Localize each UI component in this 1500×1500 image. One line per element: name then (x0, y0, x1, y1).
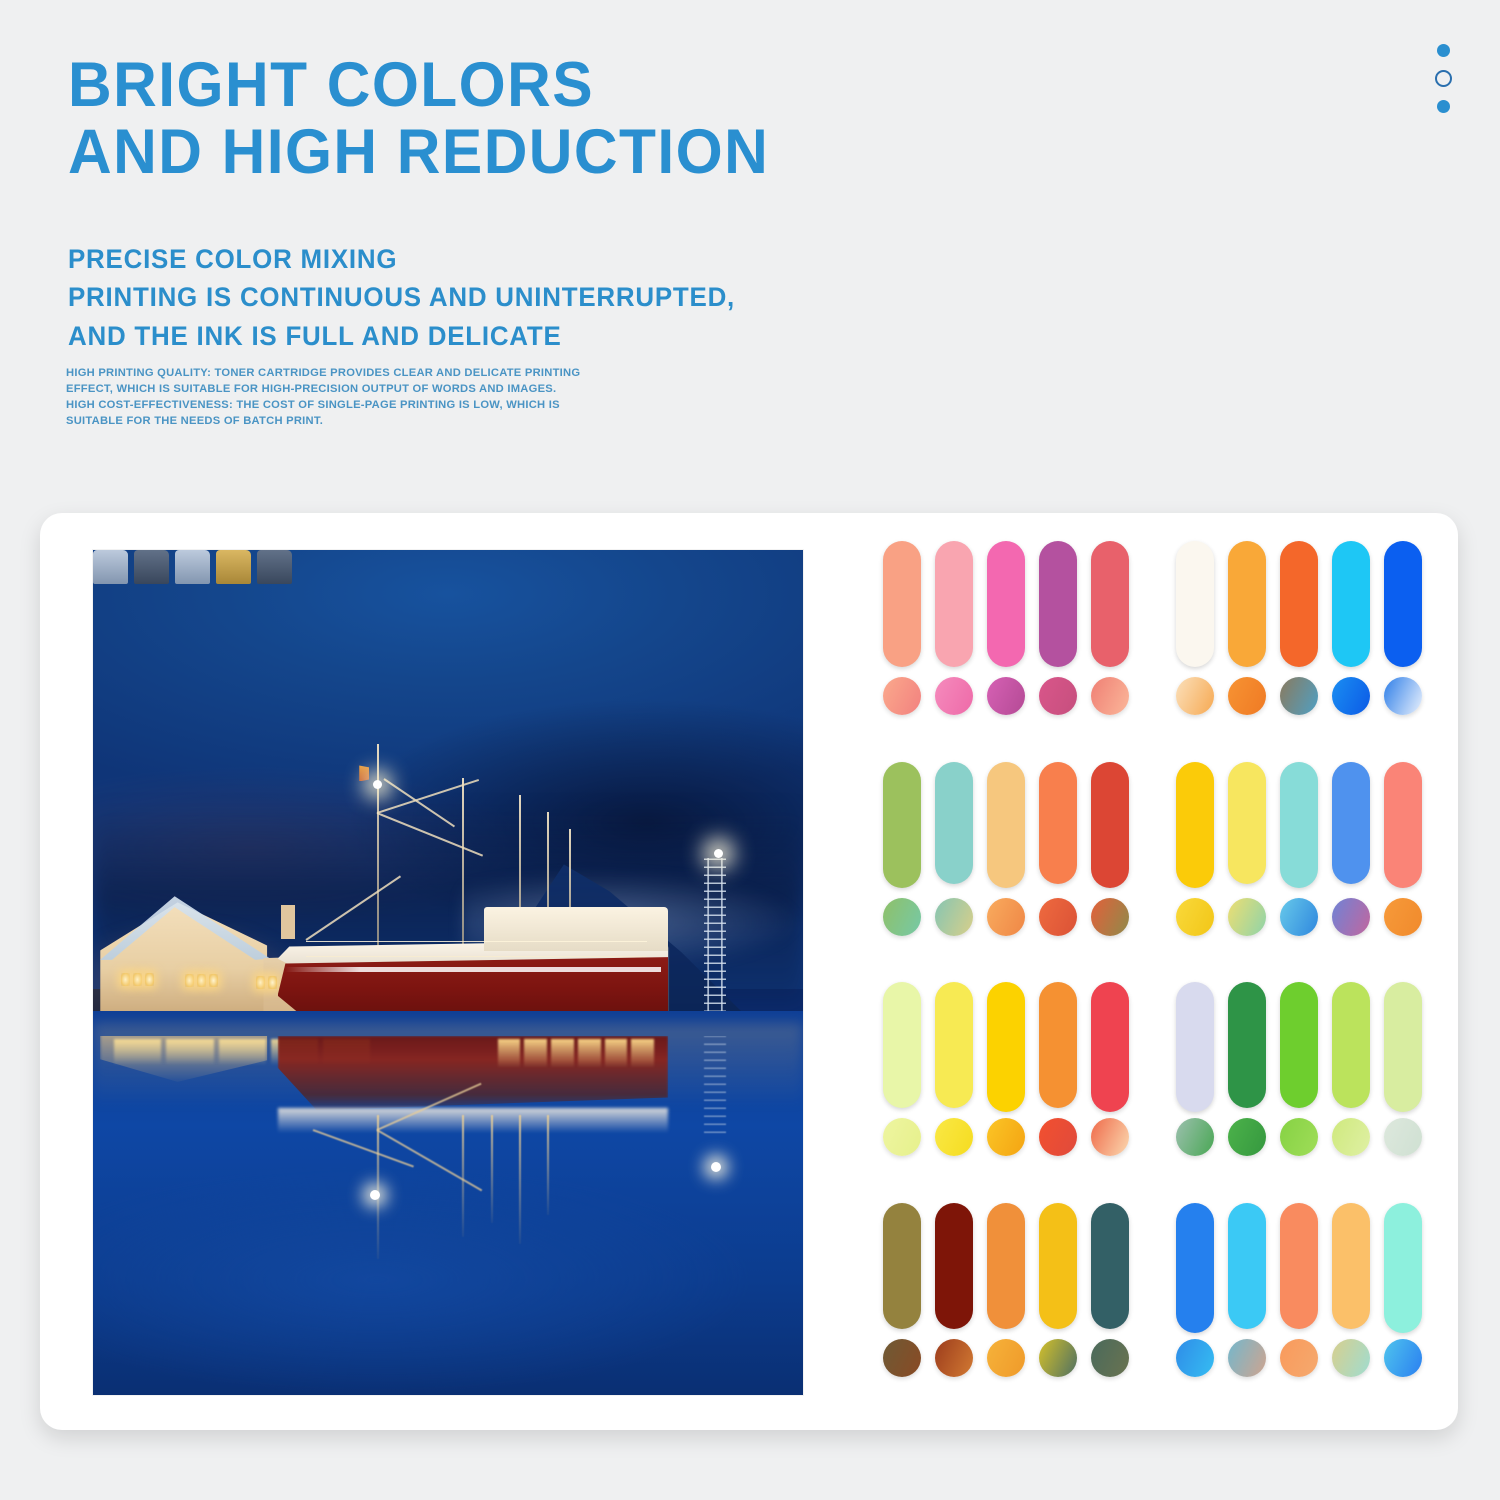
color-pill[interactable] (1384, 762, 1422, 888)
photo-reflection-bridge-window (605, 1039, 628, 1068)
pill-row (883, 1203, 1130, 1329)
photo-flag (359, 765, 369, 781)
photo-reflection-bridge-window (498, 1039, 521, 1068)
body-line-1: HIGH PRINTING QUALITY: TONER CARTRIDGE P… (66, 366, 686, 382)
color-circle[interactable] (935, 1339, 973, 1377)
color-circle[interactable] (1384, 898, 1422, 936)
circle-row (1176, 898, 1423, 936)
color-pill[interactable] (1384, 982, 1422, 1112)
color-circle[interactable] (987, 1118, 1025, 1156)
photo-window-row-2 (185, 974, 218, 987)
subheadline: PRECISE COLOR MIXING PRINTING IS CONTINU… (68, 240, 1068, 355)
photo-reflection-mast (462, 1115, 464, 1237)
subheadline-line-2: PRINTING IS CONTINUOUS AND UNINTERRUPTED… (68, 278, 1028, 316)
color-pill[interactable] (883, 762, 921, 888)
color-pill[interactable] (935, 762, 973, 884)
circle-row (883, 1339, 1130, 1377)
photo-reflection-window (114, 1039, 161, 1064)
circle-row (1176, 1118, 1423, 1156)
photo-car (93, 550, 128, 584)
color-pill[interactable] (987, 1203, 1025, 1329)
photo-deck-rail (306, 941, 647, 957)
photo-window-row-1 (121, 973, 154, 986)
color-circle[interactable] (1280, 677, 1318, 715)
color-pill[interactable] (883, 1203, 921, 1329)
circle-row (1176, 1339, 1423, 1377)
dot-filled-bottom-icon (1437, 100, 1450, 113)
photo-car (134, 550, 169, 584)
pill-row (883, 762, 1130, 888)
pill-row (1176, 541, 1423, 667)
photo-reflection-bridge-window (631, 1039, 654, 1068)
color-circle[interactable] (987, 1339, 1025, 1377)
photo-reflection-bridge-window (551, 1039, 574, 1068)
photo-mast (377, 744, 379, 955)
color-pill[interactable] (935, 1203, 973, 1329)
color-pill[interactable] (1384, 541, 1422, 667)
color-circle[interactable] (935, 677, 973, 715)
color-circle[interactable] (1176, 898, 1214, 936)
page-title: BRIGHT COLORS AND HIGH REDUCTION (68, 52, 1068, 186)
photo-parked-cars (93, 550, 292, 584)
color-pill[interactable] (1176, 762, 1214, 888)
color-circle[interactable] (1039, 1339, 1077, 1377)
photo-chimney (281, 905, 295, 939)
color-circle[interactable] (987, 898, 1025, 936)
color-circle[interactable] (1332, 677, 1370, 715)
color-circle[interactable] (883, 677, 921, 715)
photo-window (185, 974, 194, 987)
pill-row (1176, 1203, 1423, 1329)
color-pill[interactable] (1228, 982, 1266, 1108)
color-circle[interactable] (1039, 1118, 1077, 1156)
photo-reflection-tower-light (711, 1162, 721, 1172)
photo-reflection-tower (704, 1036, 727, 1133)
body-line-3: HIGH COST-EFFECTIVENESS: THE COST OF SIN… (66, 398, 686, 414)
photo-car (257, 550, 292, 584)
photo-reflection-bridge-window (578, 1039, 601, 1068)
group-pink-coral (883, 541, 1130, 750)
color-pill[interactable] (1091, 1203, 1129, 1329)
pill-row (1176, 982, 1423, 1108)
photo-reflection-bridge-windows (498, 1039, 654, 1068)
photo-hull-stripe (285, 967, 661, 972)
color-pill[interactable] (1332, 541, 1370, 667)
pill-row (883, 982, 1130, 1108)
color-circle[interactable] (1332, 1118, 1370, 1156)
photo-reflection-window (219, 1039, 266, 1064)
color-circle[interactable] (1228, 677, 1266, 715)
photo-reflection-mast (519, 1115, 521, 1244)
color-circle[interactable] (1091, 1339, 1129, 1377)
color-circle[interactable] (1228, 1339, 1266, 1377)
decor-dot-group (1435, 44, 1452, 113)
group-yellow-cyan-blue-salmon (1176, 762, 1423, 971)
photo-reflection-hull-white (278, 1108, 669, 1133)
group-olive-maroon-teal (883, 1203, 1130, 1412)
photo-lattice-tower (704, 858, 727, 1035)
harbor-photo (93, 550, 803, 1395)
photo-window (121, 973, 130, 986)
color-circle[interactable] (883, 1118, 921, 1156)
pill-row (883, 541, 1130, 667)
photo-window (197, 974, 206, 987)
color-pill[interactable] (1384, 1203, 1422, 1333)
circle-row (883, 677, 1130, 715)
photo-reflection-bridge-window (524, 1039, 547, 1068)
color-circle[interactable] (1280, 1118, 1318, 1156)
color-pill[interactable] (1091, 762, 1129, 888)
color-circle[interactable] (1091, 898, 1129, 936)
group-lemon-yellow-red (883, 982, 1130, 1191)
color-circle[interactable] (1091, 1118, 1129, 1156)
color-circle[interactable] (1039, 677, 1077, 715)
color-pill[interactable] (1280, 1203, 1318, 1329)
color-circle[interactable] (1332, 1339, 1370, 1377)
circle-row (883, 898, 1130, 936)
photo-car (175, 550, 210, 584)
group-blue-cyan-coral-mint (1176, 1203, 1423, 1412)
color-circle[interactable] (1332, 898, 1370, 936)
color-pill[interactable] (1228, 541, 1266, 667)
color-pill[interactable] (1039, 1203, 1077, 1329)
photo-window (209, 974, 218, 987)
color-circle[interactable] (1176, 1339, 1214, 1377)
color-circle[interactable] (1384, 677, 1422, 715)
color-pill[interactable] (1176, 982, 1214, 1112)
dot-filled-top-icon (1437, 44, 1450, 57)
body-line-4: SUITABLE FOR THE NEEDS OF BATCH PRINT. (66, 414, 686, 430)
photo-window (133, 973, 142, 986)
photo-window (145, 973, 154, 986)
photo-window (268, 976, 277, 989)
color-pill[interactable] (1228, 762, 1266, 884)
color-circle[interactable] (1228, 898, 1266, 936)
headline-line-1: BRIGHT COLORS (68, 52, 1028, 119)
photo-reflection-boom (313, 1129, 414, 1167)
marketing-banner: BRIGHT COLORS AND HIGH REDUCTION PRECISE… (0, 0, 1500, 1500)
color-pill[interactable] (1039, 541, 1077, 667)
group-cream-orange-blue (1176, 541, 1423, 750)
photo-mast (462, 778, 464, 955)
color-circle[interactable] (1039, 898, 1077, 936)
color-pill[interactable] (1280, 762, 1318, 888)
group-green-teal-orange (883, 762, 1130, 971)
pill-row (1176, 762, 1423, 888)
color-circle[interactable] (883, 1339, 921, 1377)
color-circle[interactable] (1280, 1339, 1318, 1377)
content-card (40, 513, 1458, 1430)
photo-reflection-mast (491, 1115, 493, 1223)
color-pill[interactable] (1332, 762, 1370, 884)
color-pill[interactable] (1228, 1203, 1266, 1329)
color-pill[interactable] (987, 762, 1025, 888)
color-pill[interactable] (1176, 1203, 1214, 1333)
subheadline-line-3: AND THE INK IS FULL AND DELICATE (68, 317, 1028, 355)
color-circle[interactable] (987, 677, 1025, 715)
photo-window-row-3 (256, 976, 277, 989)
color-pill[interactable] (987, 541, 1025, 667)
circle-row (1176, 677, 1423, 715)
photo-reflection-boom (377, 1129, 483, 1191)
body-copy: HIGH PRINTING QUALITY: TONER CARTRIDGE P… (66, 366, 686, 430)
photo-reflection-mast (377, 1115, 379, 1259)
headline-line-2: AND HIGH REDUCTION (68, 119, 1028, 186)
dot-hollow-middle-icon (1435, 70, 1452, 87)
photo-car (216, 550, 251, 584)
color-circle[interactable] (935, 1118, 973, 1156)
photo-window (256, 976, 265, 989)
color-circle[interactable] (1384, 1118, 1422, 1156)
color-pill[interactable] (883, 982, 921, 1108)
color-circle[interactable] (1176, 677, 1214, 715)
color-pill[interactable] (1091, 982, 1129, 1112)
color-pill[interactable] (1176, 541, 1214, 667)
color-pill[interactable] (935, 541, 973, 667)
color-pill[interactable] (1039, 762, 1077, 884)
color-pill[interactable] (1280, 982, 1318, 1108)
color-pill[interactable] (1091, 541, 1129, 667)
photo-reflection-mast (547, 1115, 549, 1216)
color-circle[interactable] (1176, 1118, 1214, 1156)
color-pill[interactable] (935, 982, 973, 1108)
color-circle[interactable] (1228, 1118, 1266, 1156)
color-pill[interactable] (1332, 982, 1370, 1108)
photo-reflection-window (166, 1039, 213, 1064)
color-circle[interactable] (1384, 1339, 1422, 1377)
color-swatch-panel (883, 541, 1423, 1411)
color-circle[interactable] (935, 898, 973, 936)
color-pill[interactable] (1039, 982, 1077, 1108)
circle-row (883, 1118, 1130, 1156)
photo-tower-light (714, 849, 723, 858)
color-pill[interactable] (883, 541, 921, 667)
color-pill[interactable] (1280, 541, 1318, 667)
group-lavender-greens (1176, 982, 1423, 1191)
subheadline-line-1: PRECISE COLOR MIXING (68, 240, 1028, 278)
color-circle[interactable] (883, 898, 921, 936)
color-pill[interactable] (1332, 1203, 1370, 1329)
color-circle[interactable] (1091, 677, 1129, 715)
photo-reflections (93, 1036, 803, 1395)
body-line-2: EFFECT, WHICH IS SUITABLE FOR HIGH-PRECI… (66, 382, 686, 398)
color-pill[interactable] (987, 982, 1025, 1112)
color-circle[interactable] (1280, 898, 1318, 936)
